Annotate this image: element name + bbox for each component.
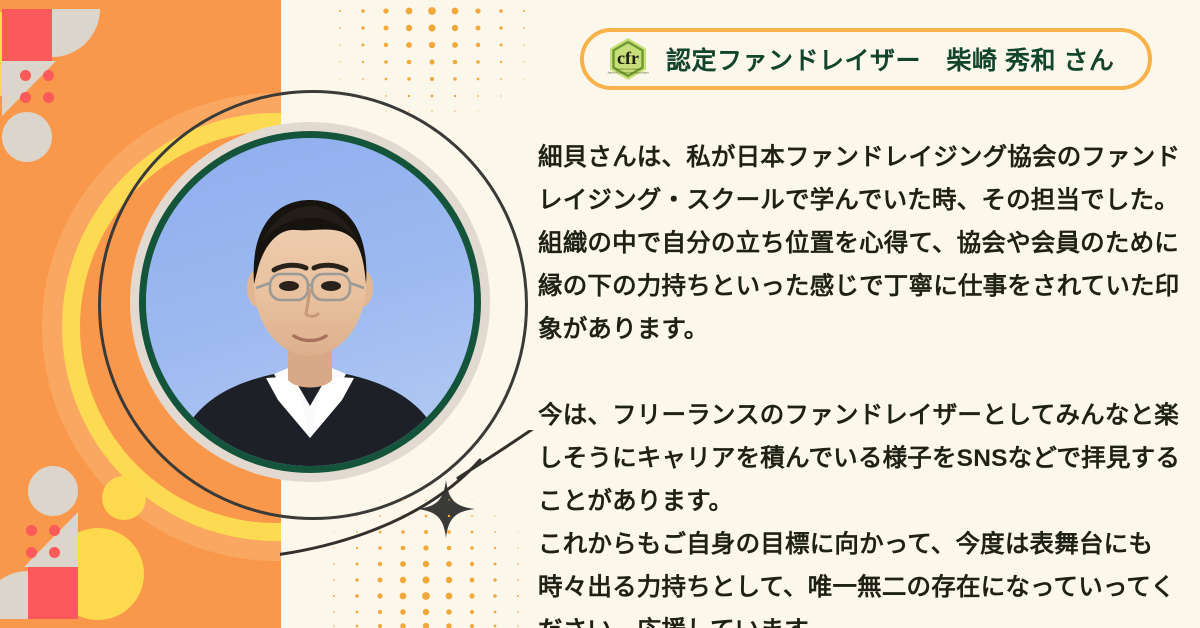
testimonial-line: 縁の下の力持ちといった感じで丁寧に仕事をされていた印 [538,265,1198,308]
svg-text:Japan Fundraising Association: Japan Fundraising Association [607,71,649,75]
cfr-logo-icon: cfr Certified Fundraiser Japan Fundraisi… [606,37,650,81]
paragraph-spacer [538,351,1198,394]
testimonial-line: 今は、フリーランスのファンドレイザーとしてみんなと楽 [538,394,1198,437]
testimonial-line: ことがあります。 [538,480,1198,523]
red-dot [20,92,31,103]
halftone-dots-top [330,0,550,133]
beige-quarter-circle-shape [52,9,100,57]
red-dot [26,525,37,536]
beige-triangle-shape [24,512,78,567]
portrait-photo [146,138,474,466]
testimonial-line: 組織の中で自分の立ち位置を心得て、協会や会員のために [538,222,1198,265]
testimonial-line: しそうにキャリアを積んでいる様子をSNSなどで拝見する [538,437,1198,480]
testimonial-line: 細貝さんは、私が日本ファンドレイジング協会のファンド [538,136,1198,179]
testimonial-line: 時々出る力持ちとして、唯一無二の存在になっていってく [538,566,1198,609]
red-dot [20,70,31,81]
decor-motif-top [0,0,120,170]
red-dot [43,70,54,81]
decor-motif-bottom [0,458,120,628]
testimonial-paragraph-2: 今は、フリーランスのファンドレイザーとしてみんなと楽 しそうにキャリアを積んでい… [538,394,1198,628]
testimonial-line: レイジング・スクールで学んでいた時、その担当でした。 [538,179,1198,222]
beige-circle-shape [2,112,52,162]
red-dot [49,525,60,536]
testimonial-paragraph-1: 細貝さんは、私が日本ファンドレイジング協会のファンド レイジング・スクールで学ん… [538,136,1198,351]
svg-text:cfr: cfr [617,48,639,68]
beige-circle-shape [28,466,78,516]
testimonial-body: 細貝さんは、私が日本ファンドレイジング協会のファンド レイジング・スクールで学ん… [538,136,1198,628]
testimonial-line: ださい。応援しています。 [538,609,1198,628]
red-square-shape [28,567,78,619]
red-dot [43,92,54,103]
beige-quarter-circle-shape [0,571,28,619]
red-dot [49,547,60,558]
content-column: cfr Certified Fundraiser Japan Fundraisi… [520,0,1200,628]
testimonial-line: これからもご自身の目標に向かって、今度は表舞台にも [538,523,1198,566]
testimonial-line: 象があります。 [538,308,1198,351]
status-badge: cfr Certified Fundraiser Japan Fundraisi… [580,28,1152,90]
red-dot [26,547,37,558]
red-square-shape [2,9,52,61]
promo-card: cfr Certified Fundraiser Japan Fundraisi… [0,0,1200,628]
badge-title: 認定ファンドレイザー 柴崎 秀和 さん [666,41,1114,77]
